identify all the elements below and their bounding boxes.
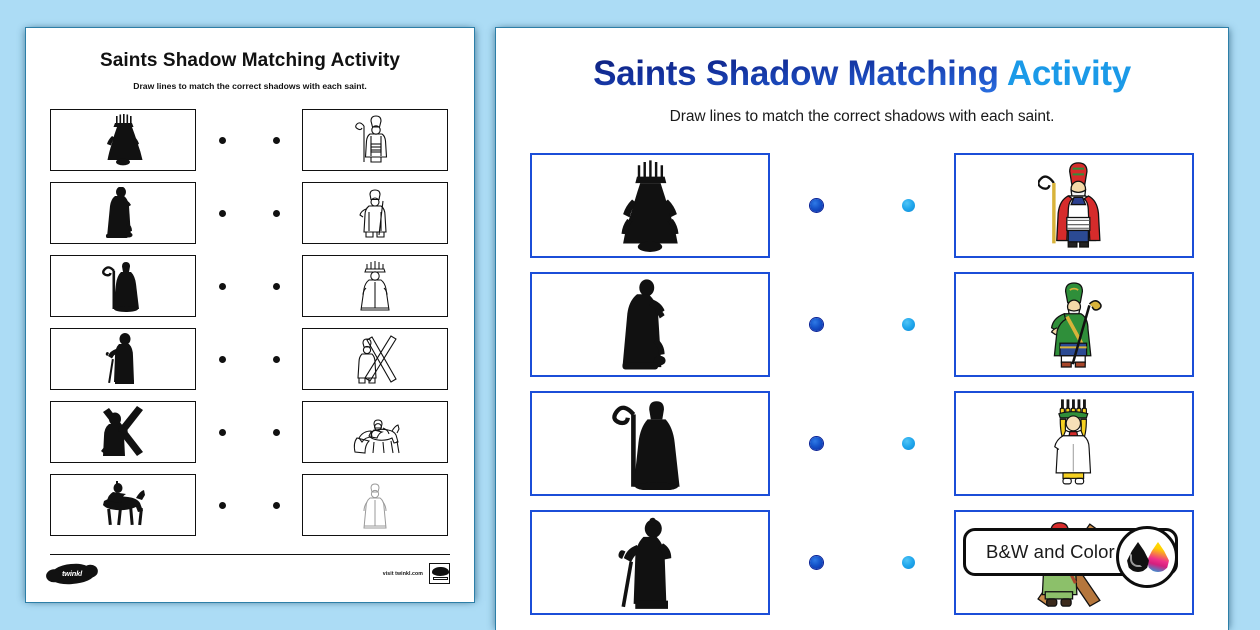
black-and-white-worksheet-preview[interactable]: Saints Shadow Matching Activity Draw lin… [26,28,474,602]
bw-figure-box[interactable] [302,109,448,171]
bw-match-row [50,396,450,468]
saint-on-horseback-outline-icon [347,408,403,456]
bw-figure-box[interactable] [302,328,448,390]
bw-connector-dot-right[interactable] [273,356,280,363]
black-ink-drop-icon [1127,542,1149,572]
color-connector-dot-left[interactable] [810,318,823,331]
color-shadow-box[interactable] [530,272,770,377]
bw-page-footer: twinkl visit twinkl.com [50,554,450,584]
bw-page-title: Saints Shadow Matching Activity [50,50,450,72]
color-match-row [530,384,1194,503]
color-connector-dot-left[interactable] [810,556,823,569]
crowned-saint-shadow-icon [606,160,694,252]
bw-and-color-badge[interactable]: B&W and Color [963,526,1260,578]
saint-on-horseback-shadow-icon [94,481,152,529]
bw-right-dot-cell [250,137,302,144]
bw-page-content: Saints Shadow Matching Activity Draw lin… [26,28,474,541]
saint-patrick-color-icon [1039,279,1109,371]
bishop-crozier-shadow-icon [100,260,146,312]
saint-andrew-cross-shadow-icon [95,406,151,458]
saint-with-staff-shadow-icon [614,517,686,609]
footer-right-group: visit twinkl.com [383,563,450,584]
crowned-saint-shadow-icon [96,114,150,166]
bw-connector-dot-left[interactable] [219,356,226,363]
bw-match-row [50,469,450,541]
color-shadow-box[interactable] [530,391,770,496]
color-figure-box[interactable] [954,272,1194,377]
twinkl-logo-icon: twinkl [50,564,94,584]
color-connector-dot-right[interactable] [902,199,915,212]
page-title-accent: Activity [1007,54,1131,93]
saint-nicholas-color-icon [1038,160,1110,252]
robed-saint-shadow-icon [616,279,684,371]
color-connector-dot-left[interactable] [810,199,823,212]
bw-figure-box[interactable] [302,182,448,244]
color-shadow-box[interactable] [530,510,770,615]
color-page-subtitle: Draw lines to match the correct shadows … [530,108,1194,126]
saint-lucy-color-icon [1041,398,1107,490]
color-connector-dot-right[interactable] [902,556,915,569]
bw-connector-dot-right[interactable] [273,429,280,436]
bw-connector-dot-left[interactable] [219,283,226,290]
bw-figure-box[interactable] [302,401,448,463]
color-page-title: Saints Shadow Matching Activity [530,54,1194,93]
color-left-dot-cell [770,199,862,212]
bw-match-row [50,177,450,249]
bw-match-row [50,250,450,322]
color-match-row [530,146,1194,265]
bw-figure-box[interactable] [302,474,448,536]
bw-connector-dot-right[interactable] [273,210,280,217]
bw-shadow-box[interactable] [50,109,196,171]
bw-shadow-box[interactable] [50,328,196,390]
bw-figure-box[interactable] [302,255,448,317]
bw-connector-dot-right[interactable] [273,137,280,144]
color-connector-dot-right[interactable] [902,437,915,450]
robed-saint-outline-icon [355,480,395,530]
screenshot-canvas: Saints Shadow Matching Activity Draw lin… [0,0,1260,630]
bw-connector-dot-right[interactable] [273,502,280,509]
bw-connector-dot-left[interactable] [219,210,226,217]
color-shadow-box[interactable] [530,153,770,258]
bw-page-subtitle: Draw lines to match the correct shadows … [50,81,450,91]
ink-drops-icon [1116,526,1178,588]
bw-left-dot-cell [196,137,248,144]
bw-match-row [50,104,450,176]
bw-shadow-box[interactable] [50,255,196,317]
page-title-main: Saints Shadow Matching [593,54,999,93]
saint-with-staff-outline-icon [353,187,397,239]
color-right-dot-cell [862,199,954,212]
bw-connector-dot-left[interactable] [219,429,226,436]
color-figure-box[interactable] [954,391,1194,496]
saint-andrew-cross-outline-icon [350,333,400,385]
color-connector-dot-left[interactable] [810,437,823,450]
saint-with-staff-shadow-icon [101,333,145,385]
color-connector-dot-right[interactable] [902,318,915,331]
bw-shadow-box[interactable] [50,401,196,463]
bw-match-row [50,323,450,395]
color-match-row [530,265,1194,384]
bishop-with-crozier-outline-icon [352,114,398,166]
bw-connector-dot-left[interactable] [219,502,226,509]
bishop-crozier-shadow-icon [612,398,688,490]
bw-connector-dot-left[interactable] [219,137,226,144]
bw-shadow-box[interactable] [50,182,196,244]
color-ink-drop-icon [1147,542,1169,572]
bw-matching-grid [50,104,450,541]
twinkl-qr-icon [429,563,450,584]
bw-and-color-label: B&W and Color [986,541,1115,563]
robed-saint-shadow-icon [102,187,144,239]
visit-url-text: visit twinkl.com [383,571,423,577]
crowned-saint-outline-icon [353,260,397,312]
bw-connector-dot-right[interactable] [273,283,280,290]
color-figure-box[interactable] [954,153,1194,258]
bw-shadow-box[interactable] [50,474,196,536]
